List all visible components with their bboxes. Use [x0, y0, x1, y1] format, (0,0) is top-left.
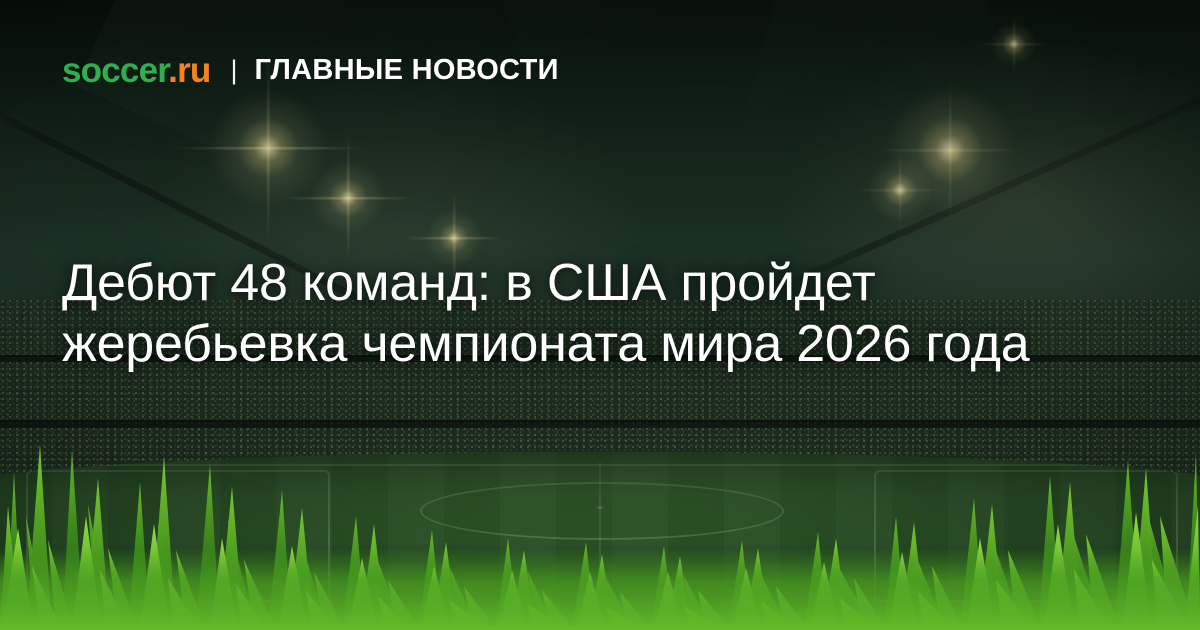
section-label: ГЛАВНЫЕ НОВОСТИ — [254, 56, 558, 85]
site-logo[interactable]: soccer.ru — [62, 53, 210, 88]
share-card: soccer.ru | ГЛАВНЫЕ НОВОСТИ Дебют 48 ком… — [0, 0, 1200, 630]
article-headline: Дебют 48 команд: в США пройдет жеребьевк… — [62, 253, 1110, 376]
site-header: soccer.ru | ГЛАВНЫЕ НОВОСТИ — [62, 53, 559, 88]
logo-text-soccer: soccer — [62, 51, 168, 90]
header-separator: | — [230, 57, 237, 84]
logo-text-ru: .ru — [168, 51, 210, 90]
foreground-grass — [0, 420, 1200, 630]
